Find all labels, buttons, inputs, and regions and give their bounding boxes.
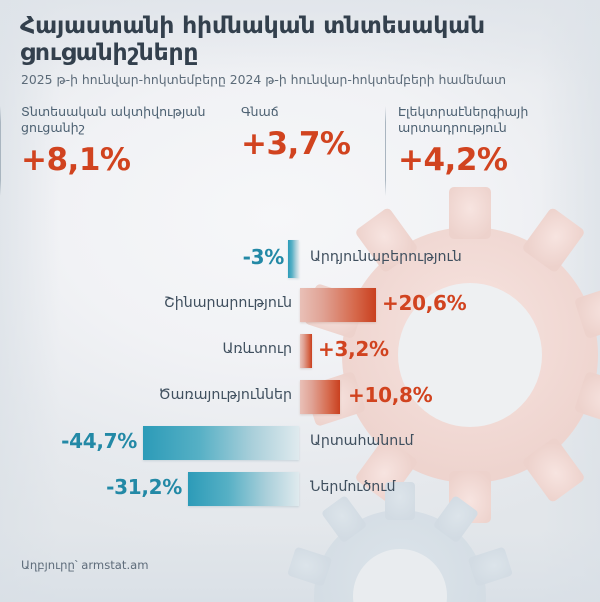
bar-positive	[300, 334, 312, 368]
bar-positive	[300, 288, 376, 322]
bar-category-label: Շինարարություն	[164, 295, 292, 311]
stat-card-group: Տնտեսական ակտիվության ցուցանիշ +8,1% Գնա…	[0, 104, 600, 196]
stat-label: Տնտեսական ակտիվության ցուցանիշ	[21, 104, 221, 136]
bar-positive	[300, 380, 340, 414]
stat-value: +3,7%	[241, 126, 371, 162]
bar-negative	[188, 472, 299, 506]
bar-category-label: Առևտուր	[222, 341, 292, 357]
chart-row: +3,2% Առևտուր	[0, 330, 600, 368]
stat-value: +4,2%	[398, 142, 588, 178]
page-subtitle: 2025 թ-ի հունվար-հոկտեմբերը 2024 թ-ի հու…	[21, 72, 561, 88]
bar-category-label: Ծառայություններ	[158, 387, 292, 403]
page-title: Հայաստանի հիմնական տնտեսական ցուցանիշներ…	[20, 12, 490, 67]
bar-negative	[143, 426, 299, 460]
stat-card-economic-activity: Տնտեսական ակտիվության ցուցանիշ +8,1%	[21, 104, 221, 178]
horizontal-bar-chart: -3% Արդյունաբերություն +20,6% Շինարարութ…	[0, 232, 600, 512]
stat-divider-2	[385, 106, 386, 196]
bar-value-label: -31,2%	[106, 475, 182, 499]
stat-card-electricity: Էլեկտրաէներգիայի արտադրություն +4,2%	[398, 104, 588, 178]
stat-label: Էլեկտրաէներգիայի արտադրություն	[398, 104, 588, 136]
chart-row: -31,2% Ներմուծում	[0, 468, 600, 506]
bar-negative	[288, 240, 299, 278]
stat-label: Գնաճ	[241, 104, 371, 120]
bar-category-label: Արդյունաբերություն	[310, 249, 462, 265]
stat-value: +8,1%	[21, 142, 221, 178]
bar-value-label: +20,6%	[382, 291, 466, 315]
source-attribution: Աղբյուրը՝ armstat.am	[21, 558, 149, 572]
stat-card-inflation: Գնաճ +3,7%	[241, 104, 371, 162]
chart-row: +20,6% Շինարարություն	[0, 284, 600, 322]
bar-category-label: Ներմուծում	[310, 479, 395, 495]
chart-row: +10,8% Ծառայություններ	[0, 376, 600, 414]
chart-row: -3% Արդյունաբերություն	[0, 238, 600, 276]
stat-divider-1	[0, 106, 1, 196]
chart-row: -44,7% Արտահանում	[0, 422, 600, 460]
bar-value-label: +3,2%	[318, 337, 389, 361]
bar-value-label: +10,8%	[348, 383, 432, 407]
bar-value-label: -44,7%	[61, 429, 137, 453]
bar-value-label: -3%	[243, 245, 284, 269]
bar-category-label: Արտահանում	[310, 433, 413, 449]
